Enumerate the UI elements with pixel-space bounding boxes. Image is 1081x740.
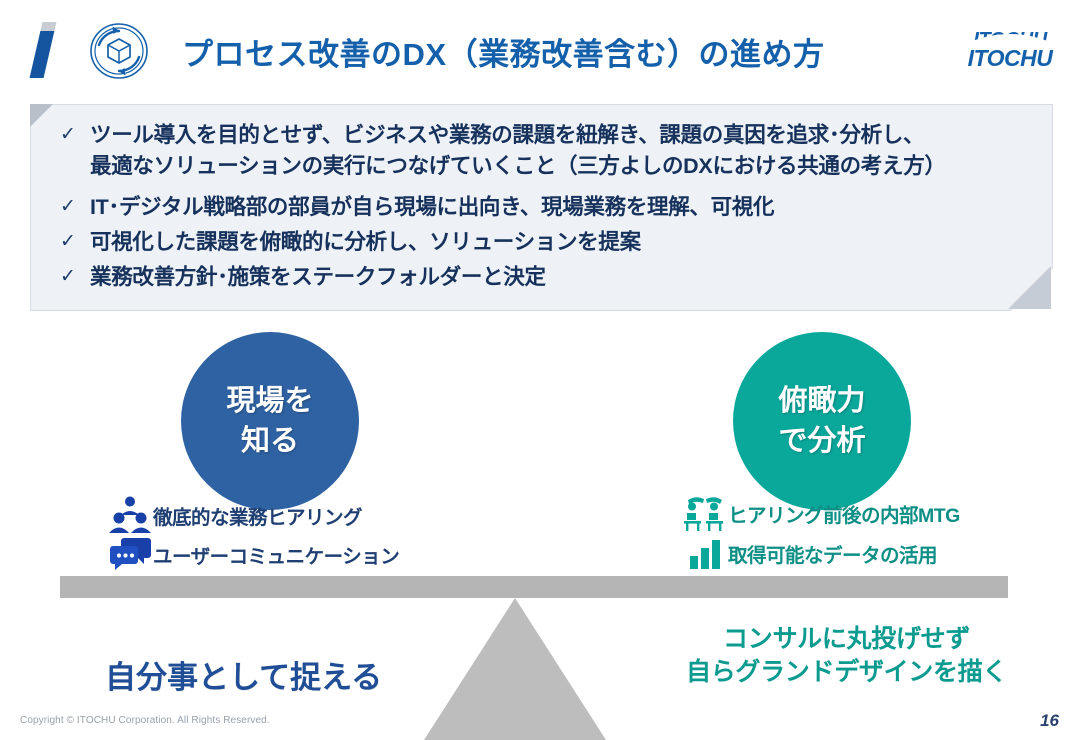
check-icon: ✓ [60,120,90,150]
circle-label-line: 俯瞰力 [778,381,865,421]
process-cycle-box-icon [88,22,150,80]
page-number: 16 [1040,711,1059,731]
feature-label: ユーザーコミュニケーション [153,540,399,569]
page-title: プロセス改善のDX（業務改善含む）の進め方 [182,29,825,74]
fulcrum-triangle [424,598,606,740]
check-icon: ✓ [60,192,90,222]
slash-accent-bar [30,22,57,78]
circle-label-line: で分析 [778,421,865,461]
bullet-text-line: IT･デジタル戦略部の部員が自ら現場に出向き、現場業務を理解、可視化 [90,192,774,222]
footer-copyright: Copyright © ITOCHU Corporation. All Righ… [20,715,270,726]
people-group-icon [107,495,153,535]
caption-right-line: 自らグランドデザインを描く [686,656,1007,689]
feature-label: 取得可能なデータの活用 [728,539,937,568]
bullet-item: ✓ ツール導入を目的とせず、ビジネスや業務の課題を紐解き、課題の真因を追求･分析… [60,120,1021,182]
bullet-text-line: ツール導入を目的とせず、ビジネスや業務の課題を紐解き、課題の真因を追求･分析し、 [90,120,946,151]
meeting-people-icon [682,493,728,533]
caption-right: コンサルに丸投げせず 自らグランドデザインを描く [686,623,1007,689]
balance-beam [60,576,1008,598]
check-icon: ✓ [60,262,90,292]
circle-label-line: 知る [241,421,299,461]
caption-left: 自分事として捉える [105,652,382,697]
caption-right-line: コンサルに丸投げせず [686,623,1007,656]
concept-circle-right: 俯瞰力 で分析 [733,332,911,510]
bullet-item: ✓ IT･デジタル戦略部の部員が自ら現場に出向き、現場業務を理解、可視化 [60,192,1021,222]
svg-text:ITOCHU: ITOCHU [968,45,1055,70]
feature-row: 徹底的な業務ヒアリング [107,495,362,535]
slide-header: プロセス改善のDX（業務改善含む）の進め方 ITOCHU ITOCHU [0,0,1081,95]
check-icon: ✓ [60,227,90,257]
feature-label: ヒアリング前後の内部MTG [728,499,960,528]
chat-bubbles-icon [107,534,153,574]
bullet-text-line: 最適なソリューションの実行につなげていくこと（三方よしのDXにおける共通の考え方… [90,151,946,182]
bullet-text-line: 可視化した課題を俯瞰的に分析し、ソリューションを提案 [90,227,641,257]
bullet-list: ✓ ツール導入を目的とせず、ビジネスや業務の課題を紐解き、課題の真因を追求･分析… [30,104,1051,309]
itochu-logo: ITOCHU ITOCHU [957,26,1063,70]
circle-label-line: 現場を [226,381,313,421]
feature-row: ヒアリング前後の内部MTG [682,493,960,533]
concept-circle-left: 現場を 知る [181,332,359,510]
bar-chart-icon [682,533,728,573]
bullet-item: ✓ 業務改善方針･施策をステークフォルダーと決定 [60,262,1021,292]
feature-row: 取得可能なデータの活用 [682,533,937,573]
bullet-text-line: 業務改善方針･施策をステークフォルダーと決定 [90,262,546,292]
bullet-item: ✓ 可視化した課題を俯瞰的に分析し、ソリューションを提案 [60,227,1021,257]
feature-row: ユーザーコミュニケーション [107,534,399,574]
feature-label: 徹底的な業務ヒアリング [153,501,362,530]
